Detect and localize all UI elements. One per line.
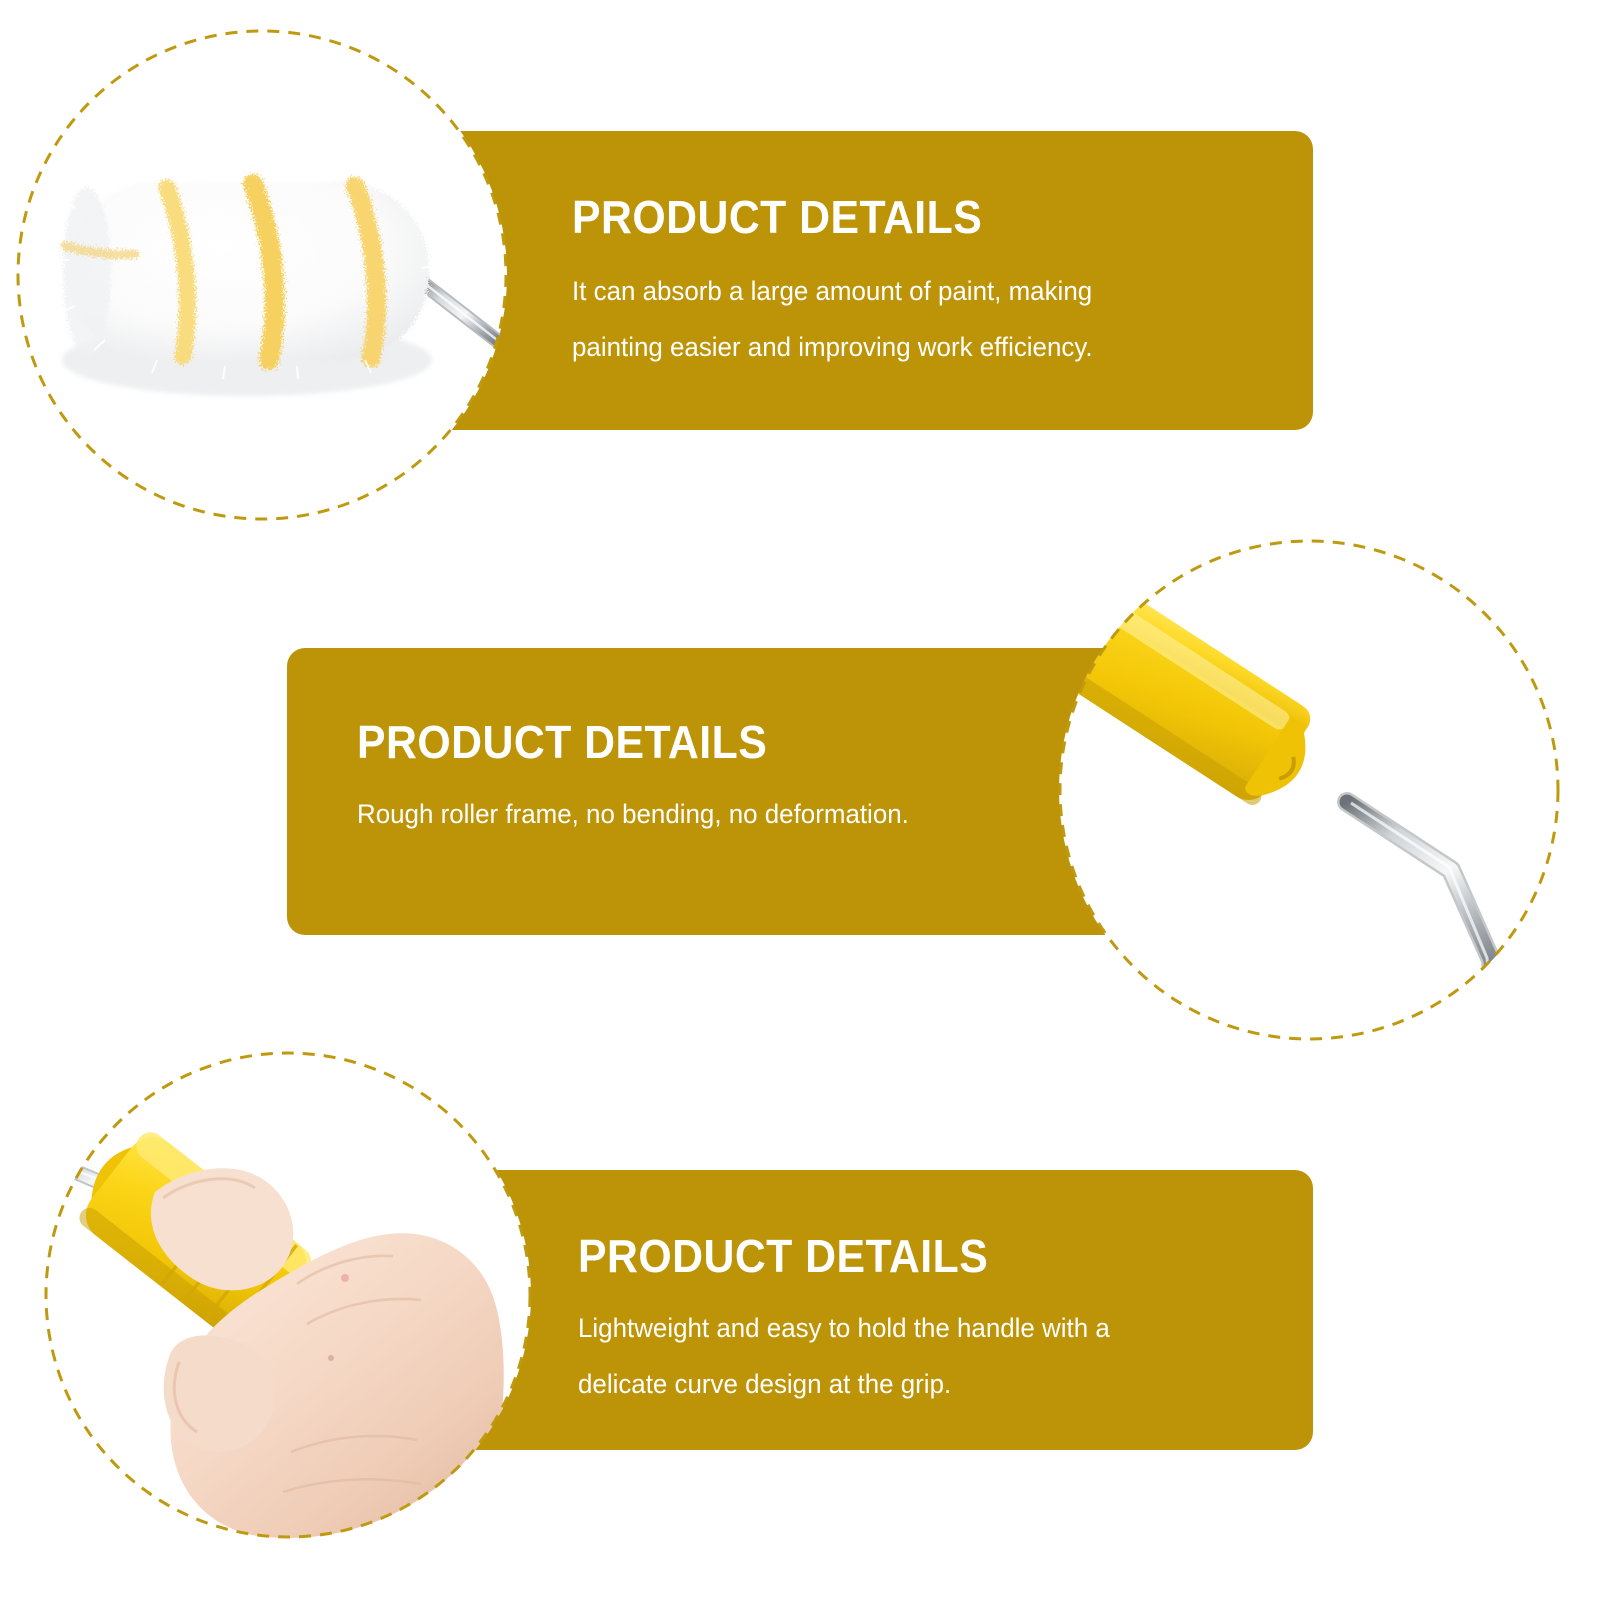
panel-1-heading: PRODUCT DETAILS xyxy=(572,193,1223,241)
skin-mark xyxy=(328,1355,334,1361)
panel-2-heading: PRODUCT DETAILS xyxy=(357,718,1008,766)
yellow-handle-grip xyxy=(1059,540,1330,818)
roller-rod xyxy=(415,277,504,346)
panel-3-heading: PRODUCT DETAILS xyxy=(578,1232,1229,1280)
roller-frame-rod xyxy=(1347,802,1497,1040)
hand xyxy=(151,1168,504,1538)
paint-roller-cover-image xyxy=(17,30,507,520)
panel-1-text-block: PRODUCT DETAILS It can absorb a large am… xyxy=(572,193,1272,375)
panel-3-body-line-1: Lightweight and easy to hold the handle … xyxy=(578,1300,1250,1356)
panel-3-photo-circle xyxy=(45,1052,531,1538)
panel-3-text-block: PRODUCT DETAILS Lightweight and easy to … xyxy=(578,1232,1278,1412)
infographic-canvas: PRODUCT DETAILS It can absorb a large am… xyxy=(0,0,1600,1600)
roller-frame-handle-image xyxy=(1059,540,1559,1040)
hand-holding-handle-image xyxy=(45,1052,531,1538)
skin-mark xyxy=(341,1274,349,1282)
panel-2-body-line-1: Rough roller frame, no bending, no defor… xyxy=(357,786,1029,842)
panel-3-body-line-2: delicate curve design at the grip. xyxy=(578,1356,1250,1412)
panel-1-body-line-1: It can absorb a large amount of paint, m… xyxy=(572,263,1244,319)
panel-2-text-block: PRODUCT DETAILS Rough roller frame, no b… xyxy=(357,718,1057,842)
panel-1-body-line-2: painting easier and improving work effic… xyxy=(572,319,1244,375)
roller-fur-body xyxy=(63,182,429,360)
panel-2-photo-circle xyxy=(1059,540,1559,1040)
panel-1-photo-circle xyxy=(17,30,507,520)
